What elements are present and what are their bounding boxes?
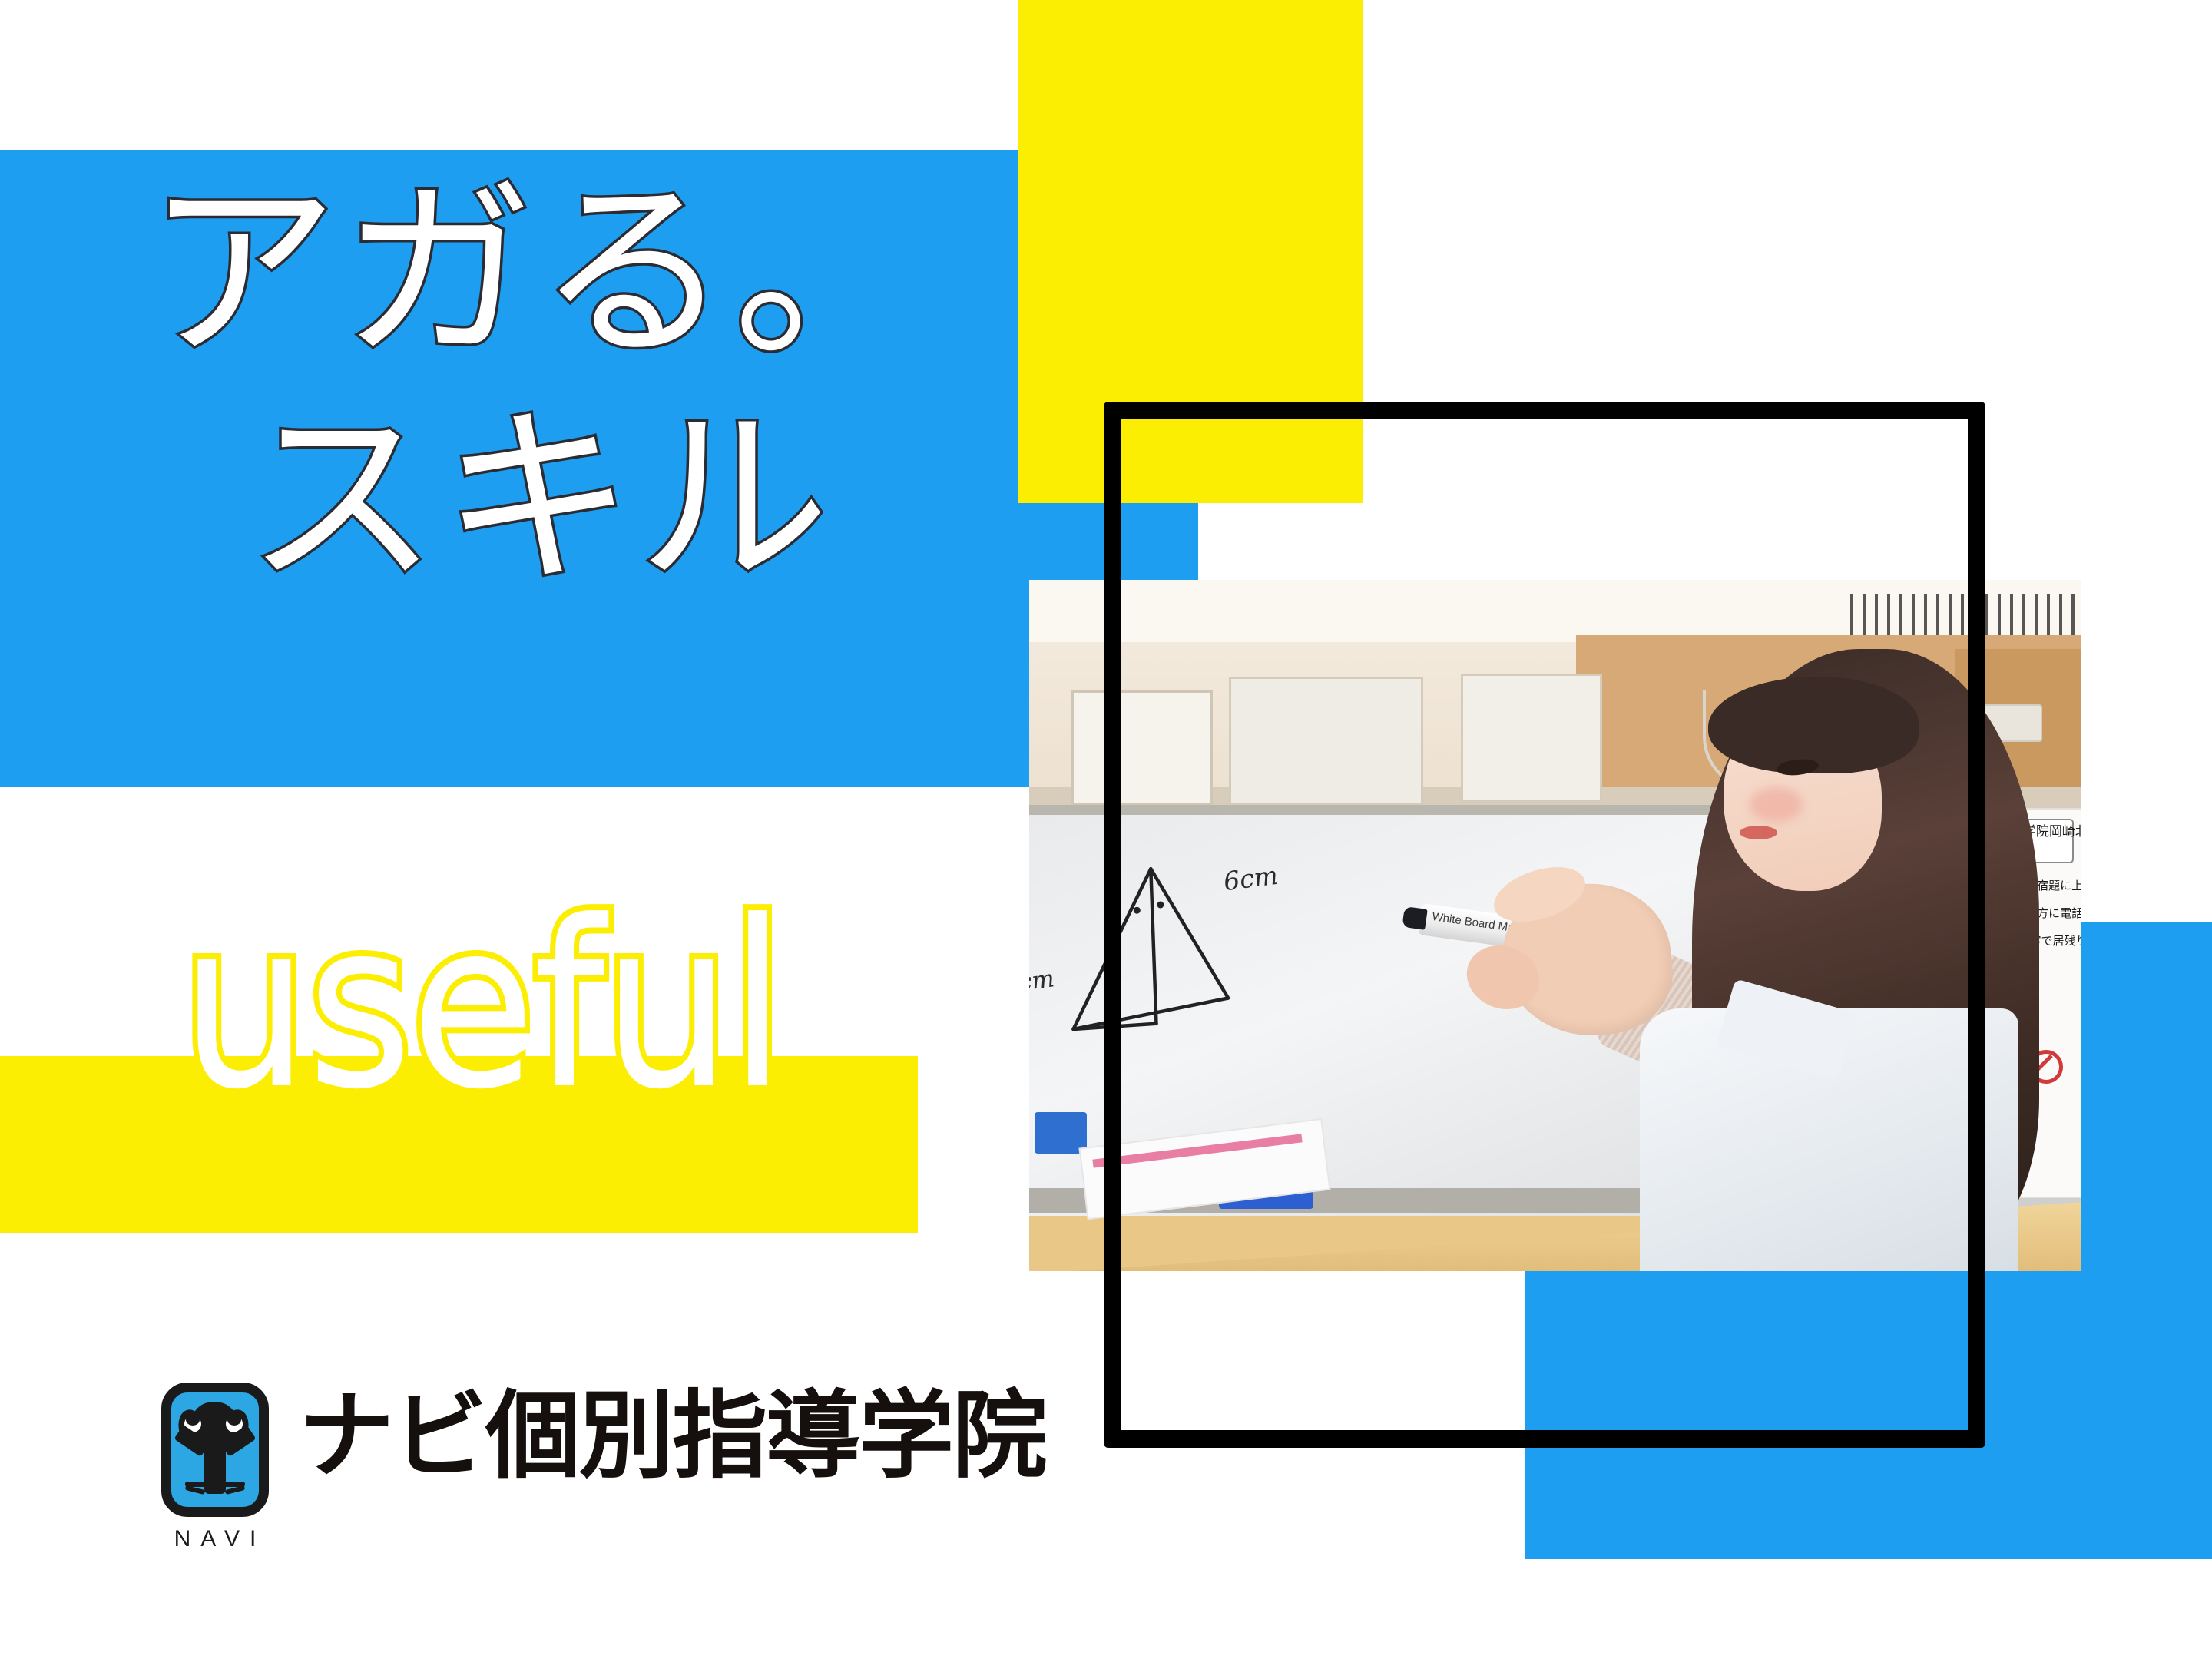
photo-student-bangs [1708, 677, 1919, 773]
photo-student-cheek [1750, 787, 1803, 822]
photo-hanger-rail [1850, 594, 2081, 635]
navi-mascot-icon: NAVI [157, 1382, 273, 1552]
marker-tip [1402, 906, 1429, 929]
mascot-pupil-left [186, 1414, 200, 1426]
navi-mascot-badge [161, 1382, 269, 1517]
logo-brand-name: ナビ個別指導学院 [299, 1386, 1045, 1488]
photo-student-lip [1740, 826, 1777, 839]
photo-small-whiteboard-2 [1229, 677, 1423, 806]
photo-small-whiteboard-1 [1071, 690, 1213, 806]
brand-logo[interactable]: NAVI ナビ個別指導学院 [157, 1382, 1045, 1552]
mascot-pupil-right [227, 1414, 241, 1426]
accent-word-useful: useful [180, 891, 783, 1121]
whiteboard-label-cm: cm [1029, 965, 1056, 996]
photo-small-whiteboard-3 [1461, 674, 1602, 803]
poster-canvas: 6cm cm White Board Marker 学生の皆さんへ 別の成績アッ… [0, 0, 2212, 1659]
classroom-photo: 6cm cm White Board Marker 学生の皆さんへ 別の成績アッ… [1029, 580, 2081, 1271]
logo-subtext-navi: NAVI [164, 1526, 267, 1552]
yellow-panel-top [1018, 0, 1363, 503]
